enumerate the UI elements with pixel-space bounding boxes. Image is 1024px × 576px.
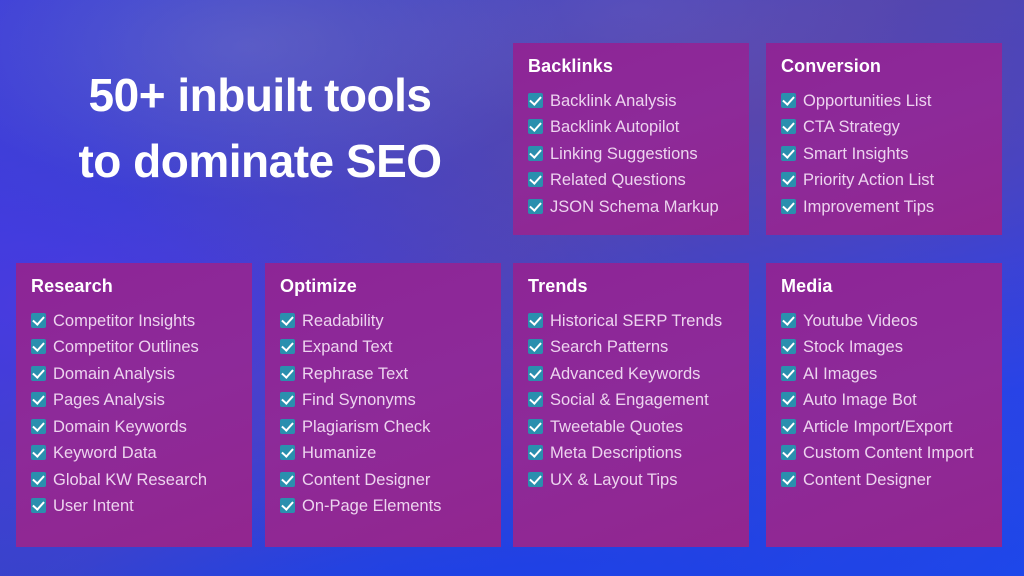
check-icon — [31, 498, 46, 513]
list-item-label: Improvement Tips — [803, 198, 934, 216]
list-item-label: Stock Images — [803, 338, 903, 356]
check-icon — [781, 172, 796, 187]
check-icon — [781, 339, 796, 354]
list-item-label: Domain Keywords — [53, 418, 187, 436]
list-item-label: Related Questions — [550, 171, 686, 189]
list-item[interactable]: Keyword Data — [31, 440, 238, 467]
list-item-label: Search Patterns — [550, 338, 668, 356]
check-icon — [31, 313, 46, 328]
check-icon — [528, 93, 543, 108]
list-item[interactable]: On-Page Elements — [280, 493, 487, 520]
feature-card-optimize: Optimize Readability Expand Text Rephras… — [265, 263, 501, 547]
list-item-label: Advanced Keywords — [550, 365, 700, 383]
card-title: Optimize — [280, 277, 487, 297]
list-item-label: Plagiarism Check — [302, 418, 430, 436]
check-icon — [781, 366, 796, 381]
list-item-label: Historical SERP Trends — [550, 312, 722, 330]
list-item-label: User Intent — [53, 497, 134, 515]
list-item[interactable]: Related Questions — [528, 167, 735, 194]
list-item[interactable]: Readability — [280, 308, 487, 335]
list-item[interactable]: Backlink Autopilot — [528, 114, 735, 141]
list-item[interactable]: Rephrase Text — [280, 361, 487, 388]
list-item-label: Find Synonyms — [302, 391, 416, 409]
list-item[interactable]: Search Patterns — [528, 334, 735, 361]
list-item[interactable]: Improvement Tips — [781, 194, 988, 221]
check-icon — [781, 392, 796, 407]
list-item-label: Meta Descriptions — [550, 444, 682, 462]
check-icon — [781, 93, 796, 108]
list-item[interactable]: Stock Images — [781, 334, 988, 361]
list-item[interactable]: Find Synonyms — [280, 387, 487, 414]
list-item[interactable]: Global KW Research — [31, 467, 238, 494]
feature-list: Competitor Insights Competitor Outlines … — [31, 308, 238, 520]
check-icon — [781, 419, 796, 434]
list-item-label: Opportunities List — [803, 92, 931, 110]
list-item-label: Custom Content Import — [803, 444, 974, 462]
list-item-label: Social & Engagement — [550, 391, 709, 409]
check-icon — [528, 199, 543, 214]
check-icon — [781, 119, 796, 134]
check-icon — [280, 419, 295, 434]
feature-list: Youtube Videos Stock Images AI Images Au… — [781, 308, 988, 494]
check-icon — [280, 366, 295, 381]
check-icon — [781, 445, 796, 460]
feature-list: Historical SERP Trends Search Patterns A… — [528, 308, 735, 494]
list-item[interactable]: Domain Keywords — [31, 414, 238, 441]
list-item-label: Keyword Data — [53, 444, 157, 462]
list-item[interactable]: User Intent — [31, 493, 238, 520]
card-title: Trends — [528, 277, 735, 297]
check-icon — [280, 313, 295, 328]
list-item[interactable]: Auto Image Bot — [781, 387, 988, 414]
check-icon — [31, 366, 46, 381]
feature-card-trends: Trends Historical SERP Trends Search Pat… — [513, 263, 749, 547]
check-icon — [528, 339, 543, 354]
check-icon — [280, 445, 295, 460]
list-item-label: Backlink Analysis — [550, 92, 677, 110]
list-item-label: AI Images — [803, 365, 877, 383]
list-item[interactable]: Plagiarism Check — [280, 414, 487, 441]
check-icon — [31, 419, 46, 434]
list-item-label: Content Designer — [803, 471, 931, 489]
card-title: Media — [781, 277, 988, 297]
check-icon — [31, 392, 46, 407]
list-item[interactable]: Domain Analysis — [31, 361, 238, 388]
check-icon — [280, 472, 295, 487]
list-item[interactable]: CTA Strategy — [781, 114, 988, 141]
feature-card-conversion: Conversion Opportunities List CTA Strate… — [766, 43, 1002, 235]
check-icon — [528, 366, 543, 381]
list-item-label: Readability — [302, 312, 384, 330]
list-item[interactable]: JSON Schema Markup — [528, 194, 735, 221]
card-title: Research — [31, 277, 238, 297]
list-item[interactable]: Content Designer — [781, 467, 988, 494]
check-icon — [280, 392, 295, 407]
check-icon — [31, 472, 46, 487]
card-title: Conversion — [781, 57, 988, 77]
check-icon — [528, 172, 543, 187]
list-item-label: JSON Schema Markup — [550, 198, 719, 216]
list-item[interactable]: Humanize — [280, 440, 487, 467]
list-item-label: On-Page Elements — [302, 497, 441, 515]
hero-line-1: 50+ inbuilt tools — [40, 62, 480, 128]
check-icon — [528, 119, 543, 134]
feature-list: Readability Expand Text Rephrase Text Fi… — [280, 308, 487, 520]
list-item[interactable]: Pages Analysis — [31, 387, 238, 414]
check-icon — [528, 392, 543, 407]
list-item-label: Pages Analysis — [53, 391, 165, 409]
card-title: Backlinks — [528, 57, 735, 77]
list-item-label: Global KW Research — [53, 471, 207, 489]
list-item[interactable]: Competitor Insights — [31, 308, 238, 335]
list-item[interactable]: UX & Layout Tips — [528, 467, 735, 494]
list-item[interactable]: Meta Descriptions — [528, 440, 735, 467]
list-item-label: Humanize — [302, 444, 376, 462]
check-icon — [528, 419, 543, 434]
list-item-label: Rephrase Text — [302, 365, 408, 383]
check-icon — [31, 339, 46, 354]
list-item-label: Domain Analysis — [53, 365, 175, 383]
list-item-label: Backlink Autopilot — [550, 118, 679, 136]
feature-list: Backlink Analysis Backlink Autopilot Lin… — [528, 88, 735, 221]
check-icon — [528, 472, 543, 487]
check-icon — [781, 472, 796, 487]
feature-card-backlinks: Backlinks Backlink Analysis Backlink Aut… — [513, 43, 749, 235]
list-item[interactable]: Priority Action List — [781, 167, 988, 194]
list-item[interactable]: Backlink Analysis — [528, 88, 735, 115]
list-item[interactable]: Article Import/Export — [781, 414, 988, 441]
list-item-label: Article Import/Export — [803, 418, 952, 436]
check-icon — [528, 445, 543, 460]
check-icon — [781, 199, 796, 214]
list-item[interactable]: Custom Content Import — [781, 440, 988, 467]
check-icon — [280, 339, 295, 354]
feature-list: Opportunities List CTA Strategy Smart In… — [781, 88, 988, 221]
list-item[interactable]: Expand Text — [280, 334, 487, 361]
list-item[interactable]: Tweetable Quotes — [528, 414, 735, 441]
list-item-label: UX & Layout Tips — [550, 471, 677, 489]
list-item[interactable]: Opportunities List — [781, 88, 988, 115]
list-item[interactable]: Content Designer — [280, 467, 487, 494]
list-item-label: Content Designer — [302, 471, 430, 489]
check-icon — [781, 146, 796, 161]
list-item-label: Auto Image Bot — [803, 391, 917, 409]
list-item[interactable]: AI Images — [781, 361, 988, 388]
check-icon — [280, 498, 295, 513]
list-item-label: Competitor Outlines — [53, 338, 199, 356]
check-icon — [528, 313, 543, 328]
check-icon — [31, 445, 46, 460]
list-item-label: Tweetable Quotes — [550, 418, 683, 436]
list-item-label: Expand Text — [302, 338, 393, 356]
list-item[interactable]: Smart Insights — [781, 141, 988, 168]
feature-card-research: Research Competitor Insights Competitor … — [16, 263, 252, 547]
hero-line-2: to dominate SEO — [40, 128, 480, 194]
list-item-label: Linking Suggestions — [550, 145, 698, 163]
list-item[interactable]: Historical SERP Trends — [528, 308, 735, 335]
feature-card-media: Media Youtube Videos Stock Images AI Ima… — [766, 263, 1002, 547]
list-item[interactable]: Linking Suggestions — [528, 141, 735, 168]
list-item-label: Priority Action List — [803, 171, 934, 189]
list-item[interactable]: Competitor Outlines — [31, 334, 238, 361]
list-item-label: Youtube Videos — [803, 312, 918, 330]
list-item-label: Smart Insights — [803, 145, 908, 163]
list-item-label: Competitor Insights — [53, 312, 195, 330]
list-item[interactable]: Advanced Keywords — [528, 361, 735, 388]
list-item-label: CTA Strategy — [803, 118, 900, 136]
check-icon — [528, 146, 543, 161]
list-item[interactable]: Youtube Videos — [781, 308, 988, 335]
check-icon — [781, 313, 796, 328]
list-item[interactable]: Social & Engagement — [528, 387, 735, 414]
hero-headline: 50+ inbuilt tools to dominate SEO — [40, 62, 480, 194]
